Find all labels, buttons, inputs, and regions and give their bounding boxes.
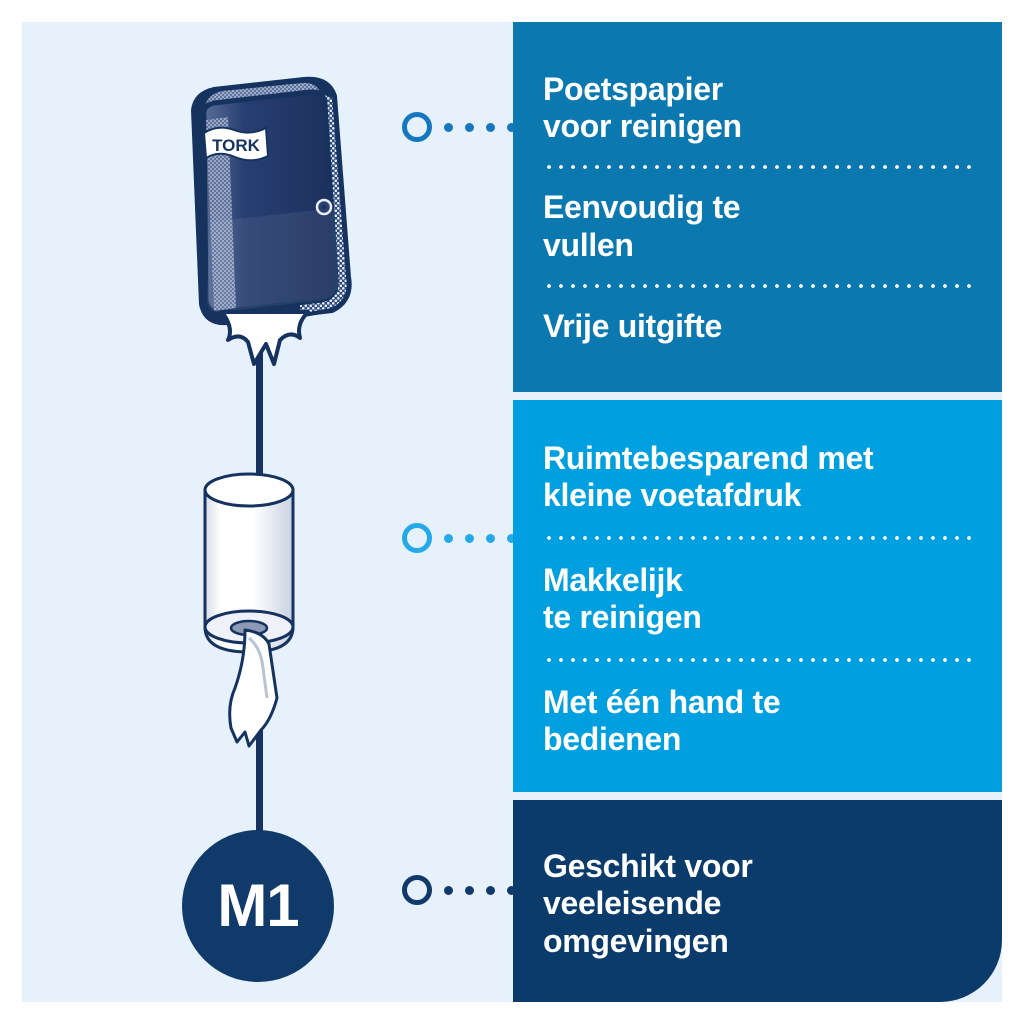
feature-divider: [543, 536, 972, 540]
connector-panel-3: [402, 873, 528, 907]
feature-item: Met één hand te bedienen: [543, 684, 972, 758]
feature-panel-3: Geschikt voor veeleisende omgevingen: [513, 800, 1002, 1002]
feature-item: Geschikt voor veeleisende omgevingen: [543, 848, 972, 959]
circle-icon: [402, 875, 432, 905]
feature-divider: [543, 658, 972, 662]
paper-roll-illustration: [187, 462, 332, 752]
feature-item: Poetspapier voor reinigen: [543, 71, 972, 145]
circle-icon: [402, 112, 432, 142]
connector-panel-1: [402, 110, 528, 144]
infographic-canvas: TORK: [0, 0, 1024, 1024]
svg-text:TORK: TORK: [212, 136, 261, 155]
circle-icon: [402, 523, 432, 553]
connector-panel-2: [402, 521, 528, 555]
feature-panel-2: Ruimtebesparend met kleine voetafdruk Ma…: [513, 400, 1002, 792]
m1-badge-label: M1: [217, 876, 298, 936]
feature-item: Vrije uitgifte: [543, 308, 972, 345]
feature-item: Ruimtebesparend met kleine voetafdruk: [543, 440, 972, 514]
tork-dispenser-illustration: TORK: [162, 72, 372, 372]
m1-system-badge: M1: [182, 830, 334, 982]
feature-divider: [543, 165, 972, 169]
feature-item: Makkelijk te reinigen: [543, 562, 972, 636]
feature-panel-1: Poetspapier voor reinigen Eenvoudig te v…: [513, 22, 1002, 392]
illustration-column: TORK: [22, 22, 492, 1002]
tork-logo: TORK: [204, 128, 268, 161]
feature-divider: [543, 284, 972, 288]
feature-item: Eenvoudig te vullen: [543, 189, 972, 263]
